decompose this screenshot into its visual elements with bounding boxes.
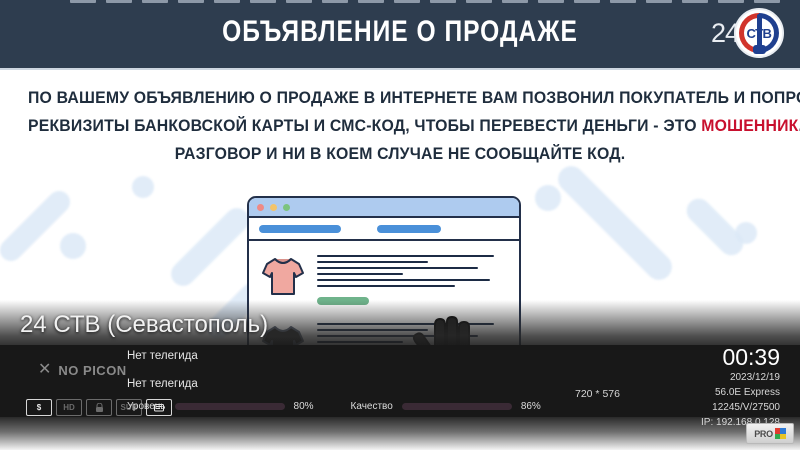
flag-crypted-icon[interactable]: $ — [26, 399, 52, 416]
fraud-highlight: МОШЕННИК — [701, 116, 798, 135]
video-resolution: 720 * 576 — [575, 388, 620, 400]
epg-next: Нет телегида — [127, 378, 198, 390]
decor-blob — [535, 185, 561, 211]
browser-tab-pill — [377, 225, 441, 233]
browser-tab-pill — [259, 225, 341, 233]
decor-blob — [553, 161, 677, 285]
message-line-1: ПО ВАШЕМУ ОБЪЯВЛЕНИЮ О ПРОДАЖЕ В ИНТЕРНЕ… — [28, 84, 772, 112]
signal-quality-value: 86% — [521, 401, 547, 412]
message-line-2a: РЕКВИЗИТЫ БАНКОВСКОЙ КАРТЫ И СМС-КОД, ЧТ… — [28, 116, 701, 135]
satellite-name: 56.0E Express — [701, 386, 780, 399]
header-divider — [0, 68, 800, 70]
signal-meters: Уровень 80% Качество 86% — [127, 401, 547, 412]
window-dot-close — [257, 204, 264, 211]
message-line-2: РЕКВИЗИТЫ БАНКОВСКОЙ КАРТЫ И СМС-КОД, ЧТ… — [28, 112, 772, 140]
close-x-icon: ✕ — [38, 362, 51, 378]
tv-screenshot: ОБЪЯВЛЕНИЕ О ПРОДАЖЕ 24 СТВ ПО ВАШЕМУ ОБ… — [0, 0, 800, 450]
browser-titlebar — [249, 198, 519, 218]
header-top-sliver — [0, 0, 800, 7]
channel-name: 24 СТВ (Севастополь) — [20, 311, 268, 339]
station-logo-text: СТВ — [736, 10, 782, 56]
picon-label: NO PICON — [58, 363, 126, 378]
epg-now: Нет телегида — [127, 350, 198, 362]
protv-watermark: PRO — [746, 423, 794, 444]
signal-level-bar — [175, 403, 285, 410]
window-dot-minimize — [270, 204, 277, 211]
transponder-info: 12245/V/27500 — [701, 401, 780, 414]
warning-message: ПО ВАШЕМУ ОБЪЯВЛЕНИЮ О ПРОДАЖЕ В ИНТЕРНЕ… — [0, 84, 800, 168]
signal-quality-bar — [402, 403, 512, 410]
current-time: 00:39 — [701, 346, 780, 369]
signal-quality-label: Качество — [351, 401, 393, 412]
tshirt-pink-icon — [259, 255, 307, 297]
decor-blob — [60, 233, 86, 259]
lock-icon[interactable] — [86, 399, 112, 416]
browser-tabs — [249, 218, 519, 241]
protv-color-squares — [775, 428, 786, 439]
sliver-dashes — [70, 0, 780, 3]
decor-blob — [166, 203, 254, 291]
decor-blob — [735, 222, 757, 244]
page-title: ОБЪЯВЛЕНИЕ О ПРОДАЖЕ — [72, 15, 728, 49]
message-line-3: РАЗГОВОР И НИ В КОЕМ СЛУЧАЕ НЕ СООБЩАЙТЕ… — [28, 140, 772, 168]
station-logo: 24 СТВ — [711, 10, 784, 56]
decor-blob — [132, 176, 154, 198]
picon-placeholder: ✕ NO PICON — [38, 362, 127, 378]
epg-info: Нет телегида Нет телегида — [127, 350, 198, 390]
protv-text: PRO — [754, 429, 773, 439]
listing-row — [249, 251, 519, 305]
osd-bottom-gradient — [0, 417, 800, 450]
signal-level-value: 80% — [294, 401, 320, 412]
window-dot-maximize — [283, 204, 290, 211]
current-date: 2023/12/19 — [701, 371, 780, 384]
signal-level-label: Уровень — [127, 401, 166, 412]
clock-panel: 00:39 2023/12/19 56.0E Express 12245/V/2… — [701, 346, 780, 429]
listing-text-lines — [317, 251, 509, 305]
station-logo-emblem: СТВ — [734, 8, 784, 58]
flag-hd-icon[interactable]: HD — [56, 399, 82, 416]
